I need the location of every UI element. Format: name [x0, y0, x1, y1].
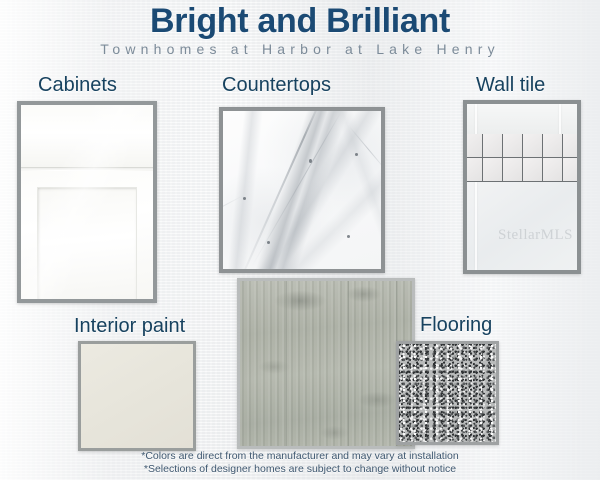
- marble-speck: [243, 197, 246, 200]
- mosaic-tile: [563, 134, 581, 158]
- wood-plank-texture: [240, 281, 412, 446]
- mosaic-tile: [523, 158, 543, 182]
- marble-speck: [355, 153, 358, 156]
- section-label-interior-paint: Interior paint: [74, 314, 185, 338]
- page-title: Bright and Brilliant: [0, 2, 600, 40]
- mosaic-tile: [543, 158, 563, 182]
- cabinet-sheen: [21, 105, 153, 299]
- paint-color-fill: [81, 344, 193, 448]
- mosaic-tile: [503, 158, 523, 182]
- plank-seam: [286, 281, 287, 446]
- mosaic-tile: [463, 134, 483, 158]
- page-subtitle: Townhomes at Harbor at Lake Henry: [0, 40, 600, 58]
- mosaic-accent-band: [463, 134, 581, 182]
- section-label-countertops: Countertops: [222, 73, 331, 97]
- plank-seam: [348, 281, 349, 446]
- mosaic-tile: [463, 158, 483, 182]
- swatch-flooring: [396, 341, 499, 445]
- mosaic-tile: [563, 158, 581, 182]
- section-label-wall-tile: Wall tile: [476, 73, 545, 97]
- marble-speck: [347, 235, 350, 238]
- mosaic-tile: [543, 134, 563, 158]
- disclaimer-line-2: *Selections of designer homes are subjec…: [0, 463, 600, 476]
- mosaic-tile: [483, 158, 503, 182]
- speckled-floor-texture: [396, 341, 499, 445]
- wall-tile-lower-course: [467, 182, 577, 270]
- swatch-cabinets: [17, 101, 157, 303]
- swatch-countertops: [219, 107, 385, 273]
- disclaimer: *Colors are direct from the manufacturer…: [0, 450, 600, 476]
- mosaic-tile: [523, 134, 543, 158]
- swatch-wall-tile: StellarMLS: [463, 100, 581, 274]
- swatch-interior-paint: [78, 341, 196, 451]
- design-selections-board: Bright and Brilliant Townhomes at Harbor…: [0, 0, 600, 480]
- section-label-flooring: Flooring: [420, 313, 492, 337]
- disclaimer-line-1: *Colors are direct from the manufacturer…: [0, 450, 600, 463]
- mosaic-tile: [483, 134, 503, 158]
- mosaic-tile: [503, 134, 523, 158]
- swatch-flooring-plank: [237, 278, 415, 449]
- marble-speck: [267, 241, 270, 244]
- watermark: StellarMLS: [498, 227, 573, 244]
- wall-tile-grout-line: [475, 182, 477, 270]
- section-label-cabinets: Cabinets: [38, 73, 117, 97]
- marble-speck: [309, 159, 312, 163]
